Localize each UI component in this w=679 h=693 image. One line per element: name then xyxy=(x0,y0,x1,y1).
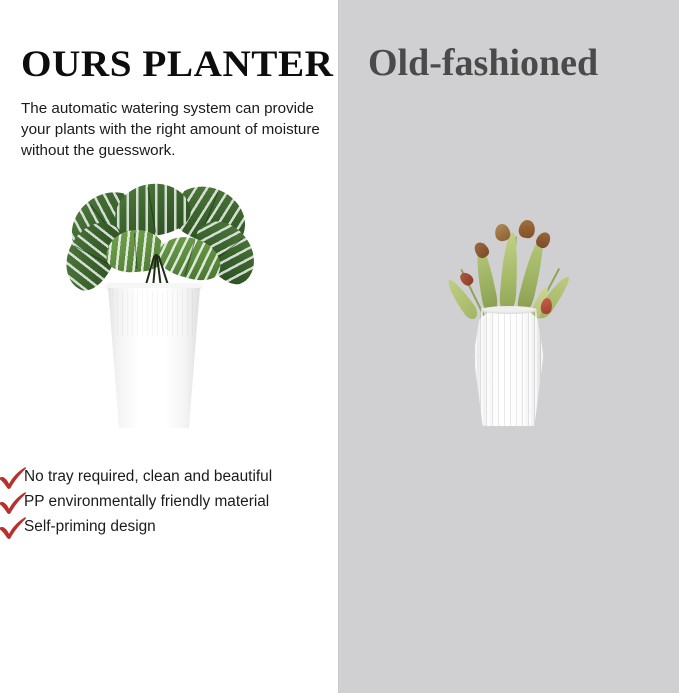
panel-ours-planter: OURS PLANTER The automatic watering syst… xyxy=(0,0,338,693)
vase-flutes xyxy=(471,308,547,426)
ours-product-image xyxy=(0,180,338,430)
panel-divider xyxy=(338,0,339,693)
planter-rim xyxy=(107,283,201,288)
list-item: No tray required, clean and beautiful xyxy=(0,466,300,487)
check-icon xyxy=(0,517,28,539)
list-item: Self-priming design xyxy=(0,516,300,537)
list-item-label: Self-priming design xyxy=(24,516,300,537)
planter-illustration xyxy=(54,180,284,430)
check-icon xyxy=(0,492,28,514)
wilted-bloom xyxy=(471,240,491,261)
ours-feature-list: No tray required, clean and beautiful PP… xyxy=(0,466,300,541)
wilted-leaf xyxy=(499,232,519,315)
list-item-label: No tray required, clean and beautiful xyxy=(24,466,300,487)
panel-old-fashioned: Old-fashioned xyxy=(338,0,679,693)
ours-title: OURS PLANTER xyxy=(21,46,334,83)
list-item-label: PP environmentally friendly material xyxy=(24,491,300,512)
vase-mouth xyxy=(481,306,537,314)
ours-intro-text: The automatic watering system can provid… xyxy=(21,98,329,161)
old-product-image xyxy=(338,180,679,430)
check-icon xyxy=(0,467,28,489)
old-title: Old-fashioned xyxy=(368,44,598,82)
wilted-bloom xyxy=(517,219,536,240)
comparison-infographic: OURS PLANTER The automatic watering syst… xyxy=(0,0,679,693)
planter-ribs xyxy=(112,290,196,336)
list-item: PP environmentally friendly material xyxy=(0,491,300,512)
wilted-bloom xyxy=(457,270,475,288)
vase-illustration xyxy=(399,180,619,430)
